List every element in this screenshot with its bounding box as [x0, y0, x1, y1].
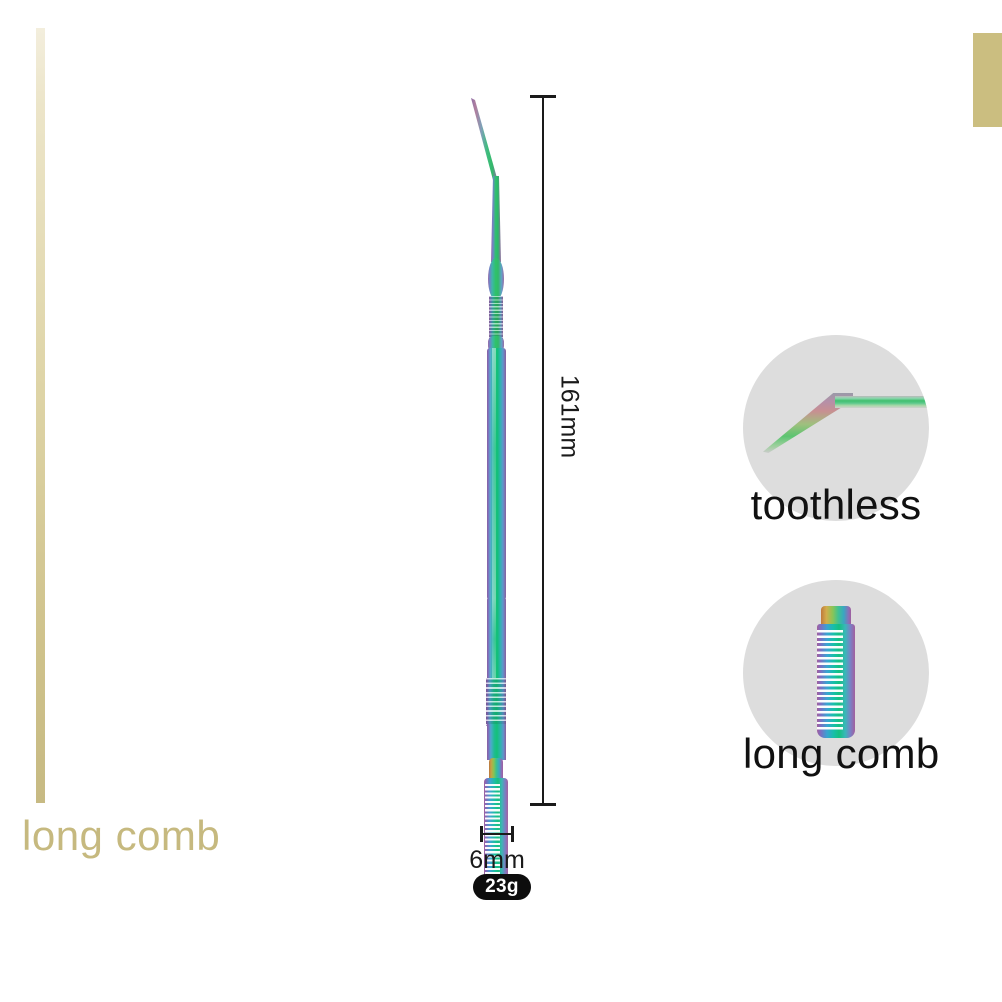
- width-dimension-line: [481, 833, 513, 835]
- weight-badge: 23g: [473, 874, 531, 900]
- tool-lower-knurl: [486, 678, 506, 726]
- tip-shaft-icon: [835, 396, 929, 408]
- tool-upper-bulge: [488, 258, 504, 300]
- product-image-canvas: long comb: [0, 0, 1002, 1002]
- product-tool-illustration: [455, 90, 535, 815]
- tool-tip-icon: [455, 90, 535, 265]
- comb-teeth-icon: [817, 630, 843, 732]
- length-dimension-label: 161mm: [553, 357, 586, 477]
- length-dimension-bottom-cap: [530, 803, 556, 806]
- gold-vertical-rule: [36, 28, 45, 803]
- tool-lower-shaft: [487, 598, 506, 680]
- callout-toothless: toothless: [743, 335, 929, 521]
- callout-long-comb: long comb: [743, 580, 929, 766]
- width-dimension-right-cap: [511, 826, 514, 842]
- width-dimension-label: 6mm: [445, 846, 549, 875]
- gold-accent-block: [973, 33, 1002, 127]
- callout-long-comb-label: long comb: [743, 730, 929, 778]
- tool-tip-svg: [455, 90, 535, 265]
- left-caption-label: long comb: [22, 812, 220, 860]
- tool-lower-grip: [487, 724, 506, 760]
- tool-main-shaft: [487, 348, 506, 600]
- length-dimension-line: [542, 96, 544, 805]
- tool-upper-knurl: [489, 296, 503, 340]
- callout-toothless-label: toothless: [743, 481, 929, 529]
